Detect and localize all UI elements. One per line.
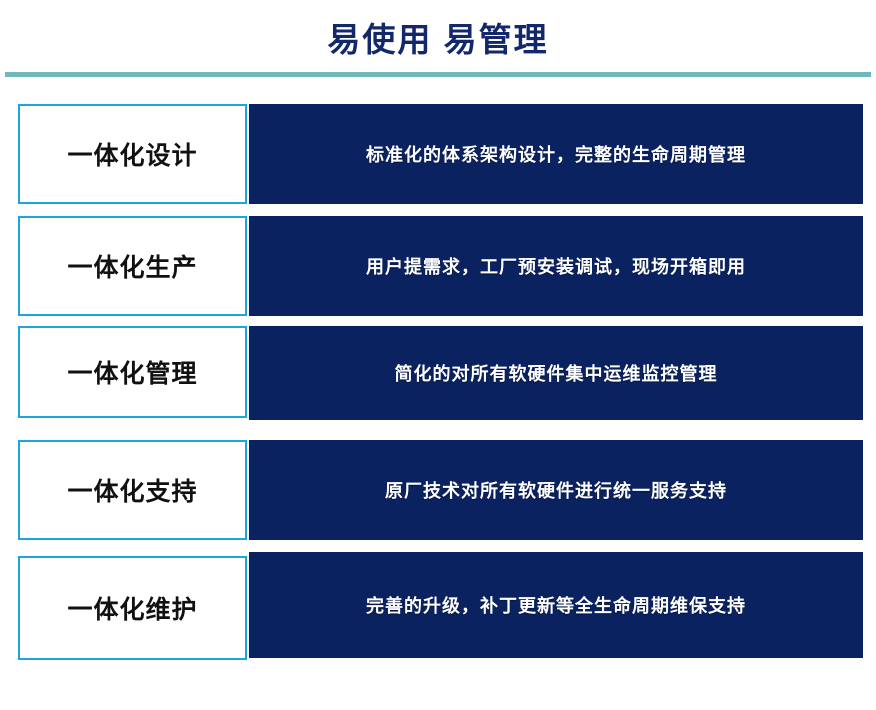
row-label-box-2[interactable]: 一体化管理 — [18, 326, 247, 418]
row-label-text: 一体化维护 — [67, 590, 197, 626]
table-row[interactable]: 一体化设计 标准化的体系架构设计，完整的生命周期管理 — [0, 104, 876, 204]
row-label-box-4[interactable]: 一体化维护 — [18, 556, 247, 660]
table-row[interactable]: 一体化生产 用户提需求，工厂预安装调试，现场开箱即用 — [0, 216, 876, 316]
row-description-panel-2[interactable]: 简化的对所有软硬件集中运维监控管理 — [249, 326, 863, 420]
row-description-text: 用户提需求，工厂预安装调试，现场开箱即用 — [366, 253, 746, 279]
table-row[interactable]: 一体化管理 简化的对所有软硬件集中运维监控管理 — [0, 326, 876, 418]
row-description-panel-3[interactable]: 原厂技术对所有软硬件进行统一服务支持 — [249, 440, 863, 540]
row-label-box-0[interactable]: 一体化设计 — [18, 104, 247, 204]
row-label-box-1[interactable]: 一体化生产 — [18, 216, 247, 316]
table-row[interactable]: 一体化支持 原厂技术对所有软硬件进行统一服务支持 — [0, 440, 876, 540]
table-row[interactable]: 一体化维护 完善的升级，补丁更新等全生命周期维保支持 — [0, 556, 876, 660]
row-label-box-3[interactable]: 一体化支持 — [18, 440, 247, 540]
feature-row-list: 一体化设计 标准化的体系架构设计，完整的生命周期管理 一体化生产 用户提需求，工… — [0, 0, 876, 710]
row-description-text: 简化的对所有软硬件集中运维监控管理 — [395, 360, 718, 386]
slide-canvas: 易使用 易管理 一体化设计 标准化的体系架构设计，完整的生命周期管理 一体化生产… — [0, 0, 876, 710]
row-label-text: 一体化管理 — [67, 354, 197, 390]
row-description-panel-1[interactable]: 用户提需求，工厂预安装调试，现场开箱即用 — [249, 216, 863, 316]
row-description-panel-0[interactable]: 标准化的体系架构设计，完整的生命周期管理 — [249, 104, 863, 204]
row-label-text: 一体化支持 — [67, 472, 197, 508]
row-description-panel-4[interactable]: 完善的升级，补丁更新等全生命周期维保支持 — [249, 552, 863, 658]
row-description-text: 原厂技术对所有软硬件进行统一服务支持 — [385, 477, 727, 503]
row-description-text: 完善的升级，补丁更新等全生命周期维保支持 — [366, 592, 746, 618]
row-description-text: 标准化的体系架构设计，完整的生命周期管理 — [366, 141, 746, 167]
row-label-text: 一体化设计 — [67, 136, 197, 172]
row-label-text: 一体化生产 — [67, 248, 197, 284]
